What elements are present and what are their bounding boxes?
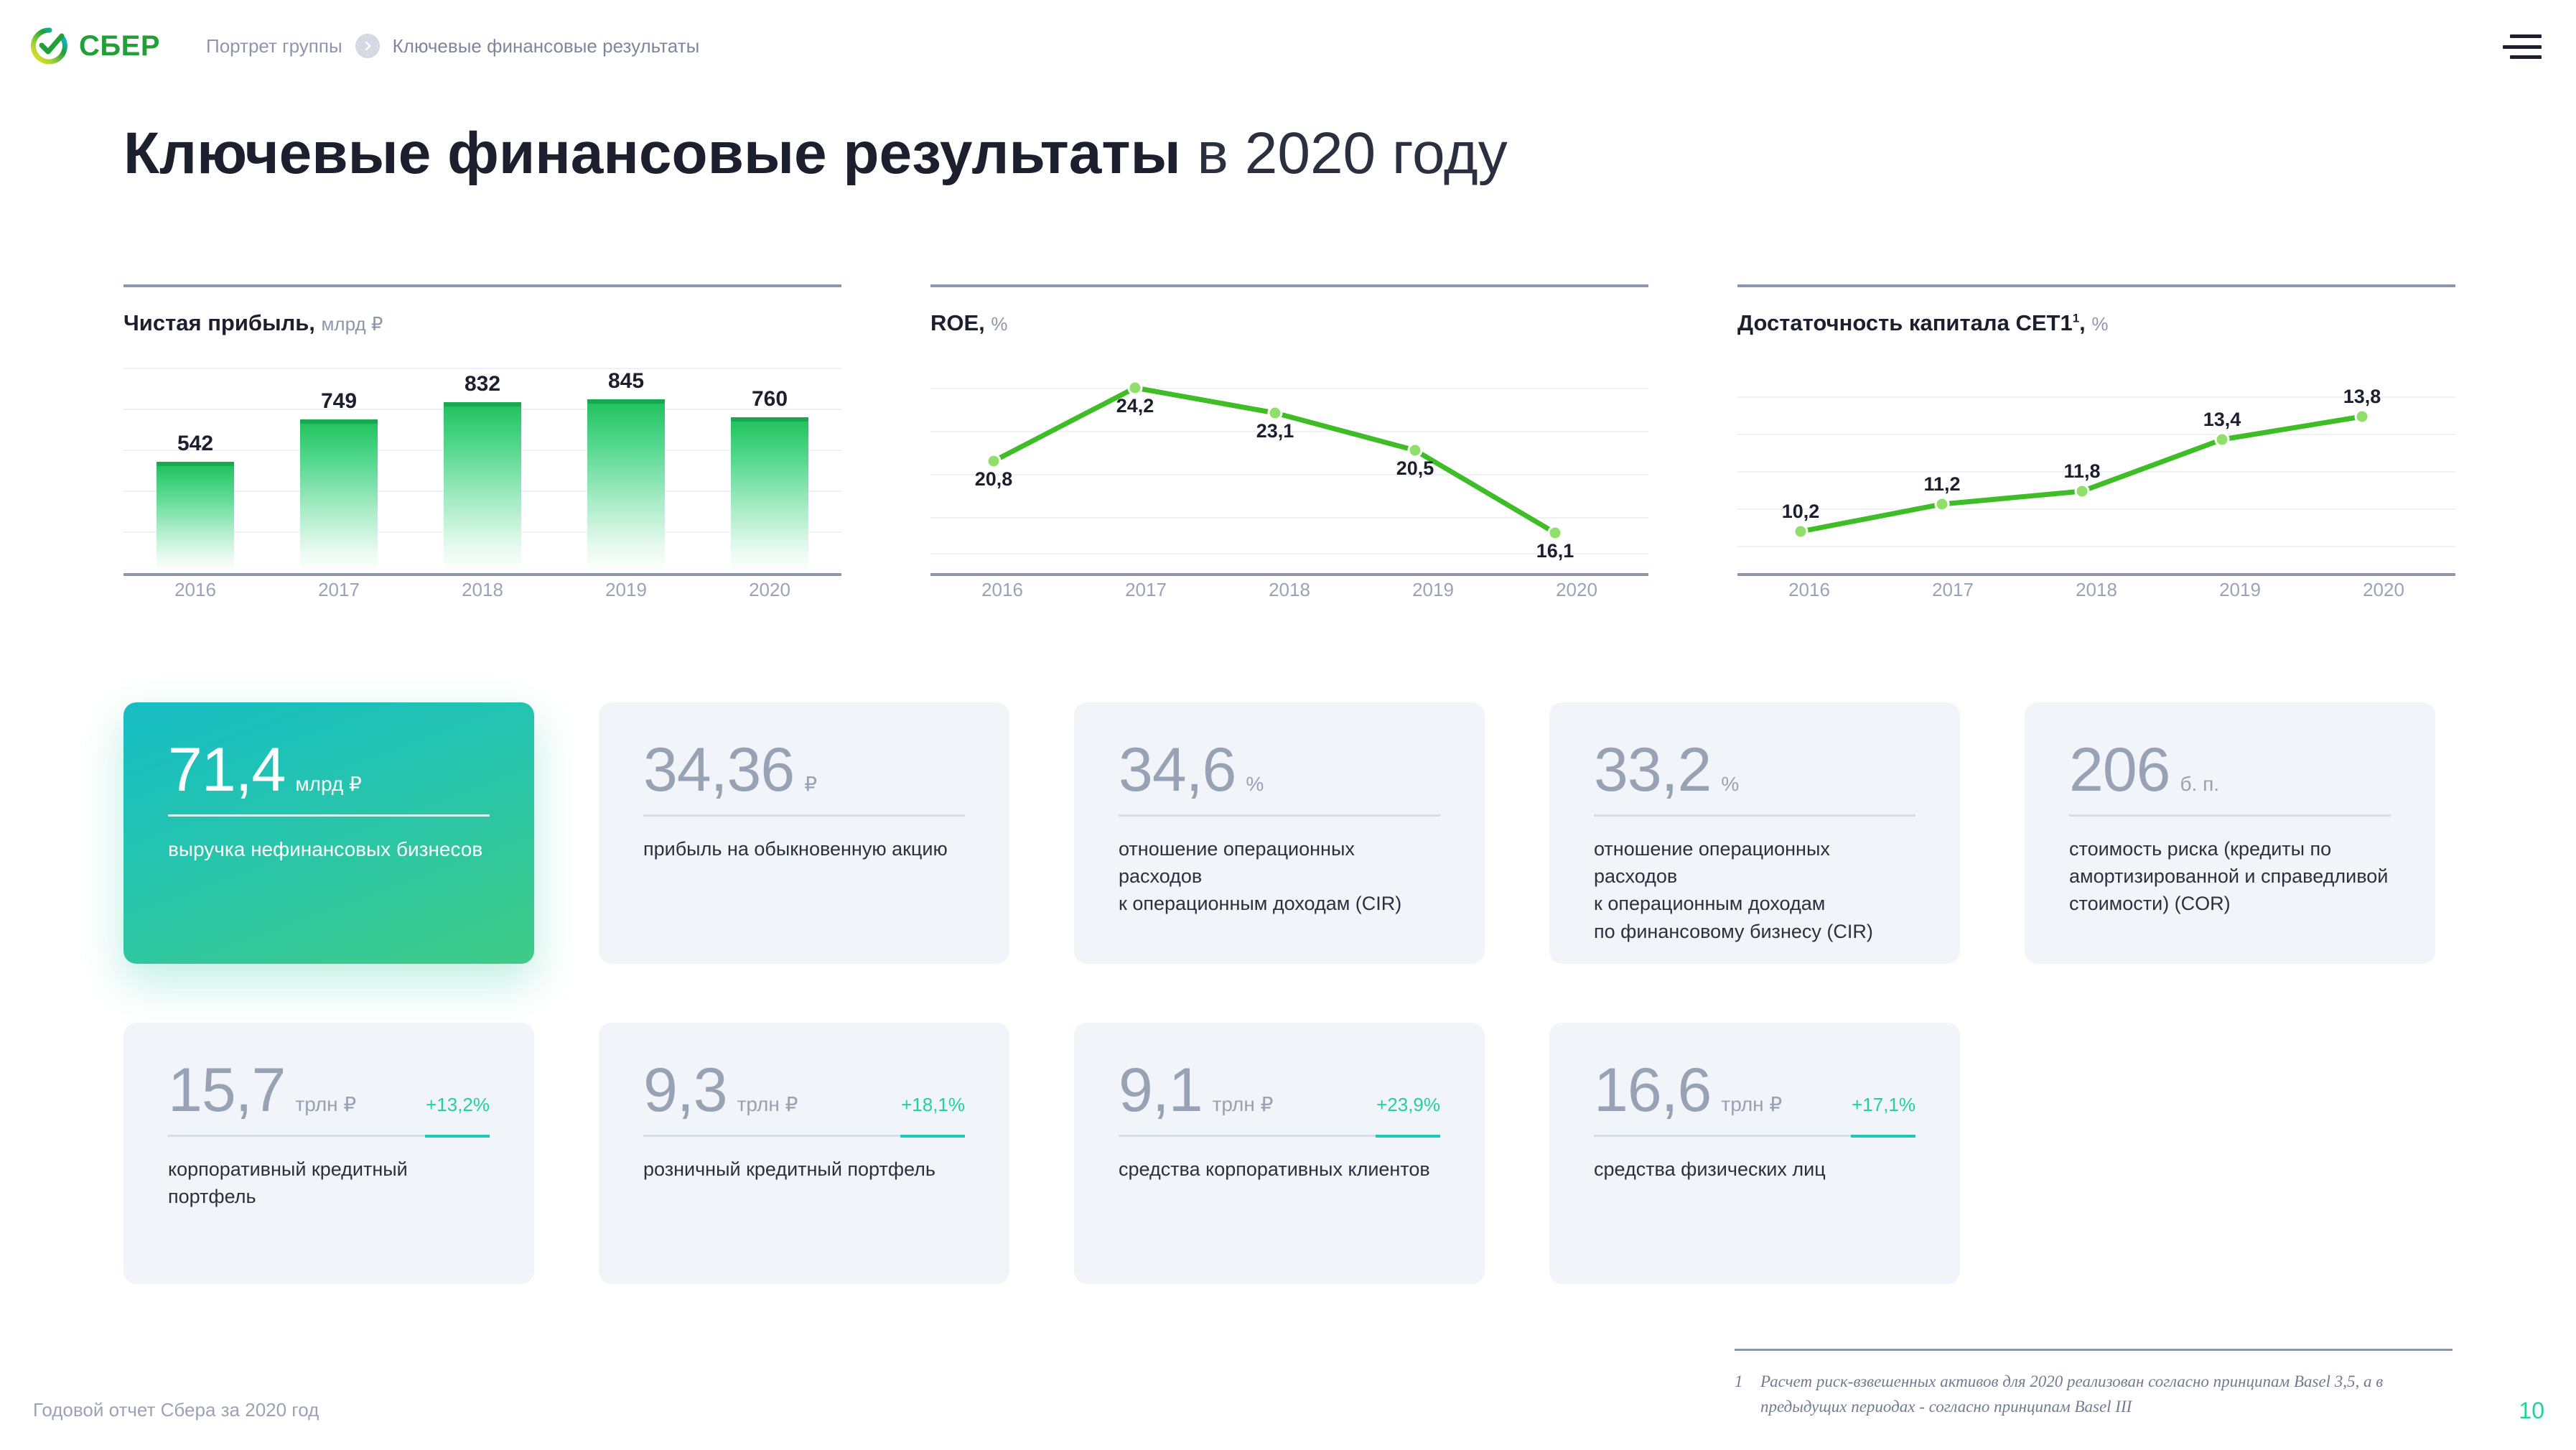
chart-title-cet1: Достаточность капитала CET11, % xyxy=(1737,310,2455,336)
kpi-divider xyxy=(168,814,490,817)
chart-top-rule xyxy=(123,284,841,287)
chart-title-net-profit: Чистая прибыль, млрд ₽ xyxy=(123,310,841,336)
kpi-card-cir-financial[interactable]: 33,2 % отношение операционных расходов к… xyxy=(1549,702,1960,964)
bar-item: 542 xyxy=(123,368,267,573)
chart-top-rule xyxy=(930,284,1648,287)
kpi-caption: корпоративный кредитный портфель xyxy=(168,1156,490,1211)
x-tick: 2019 xyxy=(2168,579,2312,601)
chart-title-unit: млрд ₽ xyxy=(322,313,383,335)
chart-roe: ROE, % xyxy=(930,284,1648,643)
kpi-value-row: 9,3 трлн ₽ +18,1% xyxy=(643,1061,965,1120)
kpi-card-nonfinancial-revenue[interactable]: 71,4 млрд ₽ выручка нефинансовых бизнесо… xyxy=(123,702,534,964)
bar-value-label: 542 xyxy=(123,432,267,456)
x-tick: 2020 xyxy=(2312,579,2455,601)
kpi-value-row: 15,7 трлн ₽ +13,2% xyxy=(168,1061,490,1120)
kpi-value-row: 206 б. п. xyxy=(2069,741,2391,800)
kpi-card-retail-loans[interactable]: 9,3 трлн ₽ +18,1% розничный кредитный по… xyxy=(599,1023,1009,1284)
kpi-delta-badge: +23,9% xyxy=(1376,1094,1440,1116)
kpi-value: 34,36 xyxy=(643,741,794,800)
x-tick: 2017 xyxy=(1074,579,1218,601)
hamburger-line-3 xyxy=(2510,55,2542,59)
kpi-value: 16,6 xyxy=(1594,1061,1711,1120)
kpi-unit: % xyxy=(1721,773,1739,796)
kpi-value-row: 71,4 млрд ₽ xyxy=(168,741,490,800)
bar-2016 xyxy=(157,462,234,573)
kpi-delta-accent xyxy=(425,1135,490,1138)
top-bar: СБЕР Портрет группы Ключевые финансовые … xyxy=(0,0,2576,92)
bar-value-label: 760 xyxy=(698,387,841,412)
chart-title-roe: ROE, % xyxy=(930,310,1648,336)
bar-item: 760 xyxy=(698,368,841,573)
kpi-unit: б. п. xyxy=(2180,773,2220,796)
footnote-number: 1 xyxy=(1735,1370,1760,1419)
kpi-card-eps[interactable]: 34,36 ₽ прибыль на обыкновенную акцию xyxy=(599,702,1009,964)
kpi-divider xyxy=(1119,814,1440,817)
x-tick: 2018 xyxy=(2025,579,2168,601)
kpi-value: 9,3 xyxy=(643,1061,727,1120)
sber-logo-icon xyxy=(30,27,69,65)
kpi-value: 206 xyxy=(2069,741,2170,800)
kpi-value-row: 33,2 % xyxy=(1594,741,1915,800)
charts-row: Чистая прибыль, млрд ₽ 542 749 xyxy=(123,284,2453,643)
x-axis-line xyxy=(1737,573,2455,576)
kpi-divider xyxy=(643,814,965,817)
footnote-block: 1 Расчет риск-взвешенных активов для 202… xyxy=(1735,1349,2453,1419)
kpi-value: 33,2 xyxy=(1594,741,1711,800)
chart-top-rule xyxy=(1737,284,2455,287)
kpi-divider xyxy=(1594,814,1915,817)
kpi-unit: трлн ₽ xyxy=(1721,1092,1782,1116)
kpi-unit: трлн ₽ xyxy=(295,1092,356,1116)
chart-title-unit: % xyxy=(991,313,1007,335)
point-label: 10,2 xyxy=(1782,501,1820,523)
x-tick: 2016 xyxy=(930,579,1074,601)
kpi-caption: средства физических лиц xyxy=(1594,1156,1915,1183)
kpi-value-row: 34,6 % xyxy=(1119,741,1440,800)
x-tick: 2018 xyxy=(1218,579,1361,601)
plot-area-net-profit: 542 749 832 845 xyxy=(123,368,841,576)
point-label: 11,8 xyxy=(2063,460,2100,483)
kpi-unit: ₽ xyxy=(804,772,817,796)
kpi-caption: прибыль на обыкновенную акцию xyxy=(643,835,965,863)
kpi-value: 9,1 xyxy=(1119,1061,1203,1120)
point-label: 13,8 xyxy=(2343,386,2381,408)
sber-logo-text: СБЕР xyxy=(79,32,160,60)
kpi-delta-badge: +17,1% xyxy=(1852,1094,1915,1116)
x-tick: 2017 xyxy=(1881,579,2025,601)
x-tick-labels: 2016 2017 2018 2019 2020 xyxy=(930,579,1648,601)
plot-area-cet1: 10,2 11,2 11,8 13,4 13,8 2016 2017 2018 … xyxy=(1737,368,2455,576)
page-number: 10 xyxy=(2519,1398,2544,1424)
kpi-delta-accent xyxy=(900,1135,965,1138)
kpi-value: 15,7 xyxy=(168,1061,285,1120)
kpi-card-cor[interactable]: 206 б. п. стоимость риска (кредиты по ам… xyxy=(2025,702,2435,964)
point-label: 24,2 xyxy=(1116,395,1154,417)
x-tick: 2016 xyxy=(1737,579,1881,601)
footnote-text: Расчет риск-взвешенных активов для 2020 … xyxy=(1760,1370,2453,1419)
bar-value-label: 832 xyxy=(411,372,554,396)
kpi-value-row: 9,1 трлн ₽ +23,9% xyxy=(1119,1061,1440,1120)
bar-series: 542 749 832 845 xyxy=(123,368,841,573)
kpi-card-corporate-loans[interactable]: 15,7 трлн ₽ +13,2% корпоративный кредитн… xyxy=(123,1023,534,1284)
breadcrumb: Портрет группы Ключевые финансовые резул… xyxy=(206,34,699,58)
plot-area-roe: 20,8 24,2 23,1 20,5 16,1 2016 2017 2018 … xyxy=(930,368,1648,576)
kpi-cards-row-2: 15,7 трлн ₽ +13,2% корпоративный кредитн… xyxy=(123,1023,1960,1284)
kpi-value: 71,4 xyxy=(168,741,285,800)
page-title: Ключевые финансовые результаты в 2020 го… xyxy=(123,121,1508,187)
kpi-caption: средства корпоративных клиентов xyxy=(1119,1156,1440,1183)
kpi-caption: отношение операционных расходов к операц… xyxy=(1119,835,1440,918)
x-tick: 2020 xyxy=(1505,579,1648,601)
kpi-delta-badge: +18,1% xyxy=(901,1094,965,1116)
bar-2018 xyxy=(444,402,521,573)
kpi-value-row: 16,6 трлн ₽ +17,1% xyxy=(1594,1061,1915,1120)
x-axis-line xyxy=(930,573,1648,576)
bar-2019 xyxy=(587,399,665,573)
x-axis-line xyxy=(123,573,841,576)
chart-cet1: Достаточность капитала CET11, % xyxy=(1737,284,2455,643)
slide-page: СБЕР Портрет группы Ключевые финансовые … xyxy=(0,0,2576,1450)
kpi-caption: отношение операционных расходов к операц… xyxy=(1594,835,1915,945)
chart-net-profit: Чистая прибыль, млрд ₽ 542 749 xyxy=(123,284,841,643)
x-tick-labels: 2016 2017 2018 2019 2020 xyxy=(123,579,841,601)
footnote: 1 Расчет риск-взвешенных активов для 202… xyxy=(1735,1370,2453,1419)
chart-title-text: Чистая прибыль, xyxy=(123,310,315,335)
point-label: 23,1 xyxy=(1256,420,1294,442)
page-title-light: в 2020 году xyxy=(1181,121,1508,186)
x-tick: 2019 xyxy=(554,579,698,601)
hamburger-menu-icon[interactable] xyxy=(2503,34,2542,59)
bar-item: 845 xyxy=(554,368,698,573)
bar-2017 xyxy=(300,419,378,573)
kpi-unit: трлн ₽ xyxy=(737,1092,798,1116)
x-tick: 2016 xyxy=(123,579,267,601)
chart-title-footnote-ref: 1 xyxy=(2073,312,2079,325)
x-tick: 2018 xyxy=(411,579,554,601)
x-tick: 2017 xyxy=(267,579,411,601)
breadcrumb-item-parent[interactable]: Портрет группы xyxy=(206,35,342,57)
kpi-delta-accent xyxy=(1376,1135,1440,1138)
sber-logo[interactable]: СБЕР xyxy=(30,27,160,65)
kpi-divider xyxy=(1594,1135,1915,1137)
chevron-right-icon xyxy=(355,34,380,58)
point-label: 20,5 xyxy=(1396,457,1434,480)
chart-title-text: Достаточность капитала CET1 xyxy=(1737,310,2073,335)
kpi-value-row: 34,36 ₽ xyxy=(643,741,965,800)
x-tick: 2019 xyxy=(1361,579,1505,601)
breadcrumb-item-current[interactable]: Ключевые финансовые результаты xyxy=(393,35,700,57)
kpi-cards-row-1: 71,4 млрд ₽ выручка нефинансовых бизнесо… xyxy=(123,702,2435,964)
kpi-value: 34,6 xyxy=(1119,741,1236,800)
kpi-delta-badge: +13,2% xyxy=(426,1094,490,1116)
footer-report-name: Годовой отчет Сбера за 2020 год xyxy=(33,1399,319,1421)
bar-item: 749 xyxy=(267,368,411,573)
kpi-caption: стоимость риска (кредиты по амортизирова… xyxy=(2069,835,2391,918)
kpi-delta-accent xyxy=(1851,1135,1915,1138)
x-tick: 2020 xyxy=(698,579,841,601)
bar-2020 xyxy=(731,417,808,573)
kpi-caption: выручка нефинансовых бизнесов xyxy=(168,835,490,864)
point-label: 20,8 xyxy=(975,468,1013,491)
kpi-unit: трлн ₽ xyxy=(1213,1092,1274,1116)
page-title-bold: Ключевые финансовые результаты xyxy=(123,121,1181,186)
point-label: 16,1 xyxy=(1536,540,1574,562)
kpi-caption: розничный кредитный портфель xyxy=(643,1156,965,1183)
x-tick-labels: 2016 2017 2018 2019 2020 xyxy=(1737,579,2455,601)
point-label: 11,2 xyxy=(1923,473,1960,496)
kpi-divider xyxy=(168,1135,490,1137)
kpi-divider xyxy=(643,1135,965,1137)
hamburger-line-1 xyxy=(2510,34,2542,38)
chart-title-text: ROE, xyxy=(930,310,985,335)
point-label: 13,4 xyxy=(2203,409,2241,431)
chart-title-unit: % xyxy=(2091,313,2108,335)
kpi-unit: млрд ₽ xyxy=(295,772,361,796)
footnote-rule xyxy=(1735,1349,2453,1351)
bar-value-label: 749 xyxy=(267,389,411,414)
bar-item: 832 xyxy=(411,368,554,573)
bar-value-label: 845 xyxy=(554,369,698,394)
hamburger-line-2 xyxy=(2503,45,2542,49)
kpi-unit: % xyxy=(1246,773,1264,796)
kpi-card-cir[interactable]: 34,6 % отношение операционных расходов к… xyxy=(1074,702,1485,964)
kpi-card-corporate-deposits[interactable]: 9,1 трлн ₽ +23,9% средства корпоративных… xyxy=(1074,1023,1485,1284)
chart-title-comma: , xyxy=(2079,310,2086,335)
kpi-divider xyxy=(1119,1135,1440,1137)
kpi-card-retail-deposits[interactable]: 16,6 трлн ₽ +17,1% средства физических л… xyxy=(1549,1023,1960,1284)
kpi-divider xyxy=(2069,814,2391,817)
